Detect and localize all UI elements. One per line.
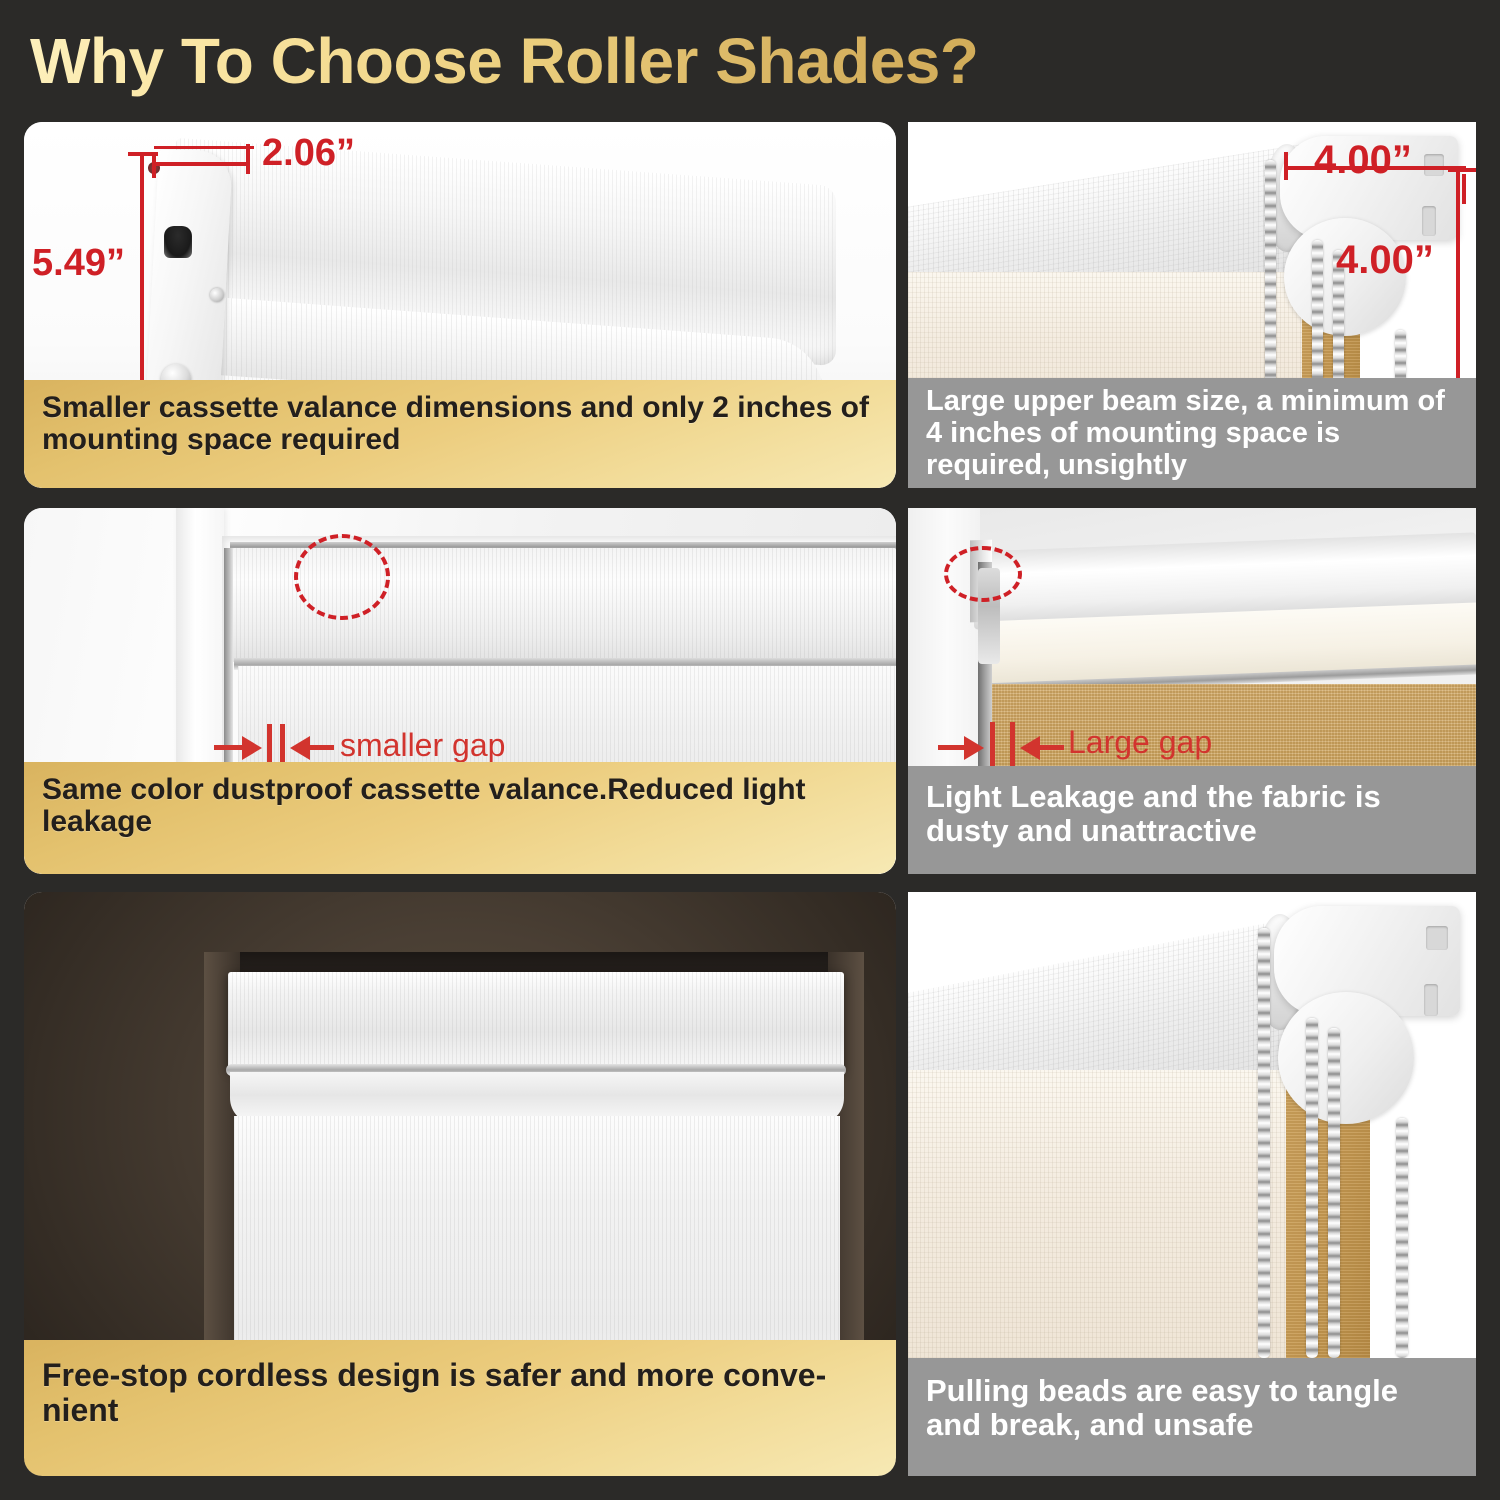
gap-arrow-right-icon	[242, 736, 262, 760]
gap-arrow-stem-left	[938, 745, 964, 750]
gap-tick-left	[990, 722, 995, 768]
gap-tick-right	[280, 724, 285, 766]
dimension-label-width: 4.00”	[1314, 138, 1412, 183]
bead-chain-left	[1258, 928, 1270, 1358]
gap-label: smaller gap	[340, 727, 505, 764]
dimension-tick-right	[246, 144, 250, 174]
dimension-tick-left	[1284, 152, 1288, 180]
cassette-valance	[228, 972, 844, 1070]
gap-arrow-stem-right	[1040, 745, 1064, 750]
panel-cordless-design: Free-stop cordless design is safer and m…	[24, 892, 896, 1476]
dimension-line-width	[154, 162, 250, 166]
bracket-tab-top	[1424, 154, 1444, 176]
gap-arrow-stem-right	[310, 745, 334, 750]
panel-pulling-beads: Pulling beads are easy to tangle and bre…	[908, 892, 1476, 1476]
panel-large-upper-beam: 4.00” 4.00” Large upper beam size, a min…	[908, 122, 1476, 488]
panel-caption: Pulling beads are easy to tangle and bre…	[908, 1358, 1476, 1476]
gap-arrow-stem-left	[214, 745, 242, 750]
gap-arrow-left-icon	[290, 736, 310, 760]
dimension-tick-top	[1448, 168, 1476, 172]
gap-arrow-right-icon	[964, 736, 984, 760]
gap-tick-left	[267, 724, 272, 766]
valance-screw-small	[210, 288, 224, 302]
panel-smaller-cassette: 2.06” 5.49” Smaller cassette valance dim…	[24, 122, 896, 488]
panel-caption: Light Leakage and the fabric is dusty an…	[908, 766, 1476, 874]
comparison-grid: 2.06” 5.49” Smaller cassette valance dim…	[0, 0, 1500, 1500]
dimension-guide-top	[154, 146, 254, 149]
bracket-tab-bottom	[1424, 984, 1438, 1016]
dimension-tick-top	[128, 152, 158, 156]
highlight-circle-icon	[294, 534, 390, 620]
bracket-tab-top	[1426, 926, 1448, 950]
panel-caption: Large upper beam size, a minimum of 4 in…	[908, 378, 1476, 488]
dimension-line-height	[1456, 170, 1460, 384]
gap-tick-right	[1010, 722, 1015, 768]
mounting-bracket-lower-lobe	[1278, 992, 1414, 1124]
shade-main-fabric	[908, 1070, 1294, 1358]
dimension-label-width: 2.06”	[262, 132, 355, 175]
panel-caption: Free-stop cordless design is safer and m…	[24, 1340, 896, 1476]
panel-caption: Smaller cassette valance dimensions and …	[24, 380, 896, 488]
valance-slot	[164, 226, 192, 258]
bracket-tab-bottom	[1422, 206, 1436, 236]
panel-caption: Same color dustproof cassette valance.Re…	[24, 762, 896, 874]
bead-chain-middle	[1306, 1018, 1318, 1358]
dimension-tick-right	[1462, 174, 1466, 204]
highlight-circle-icon	[944, 546, 1022, 602]
bead-chain-right	[1396, 1118, 1408, 1358]
panel-smaller-gap: smaller gap Same color dustproof cassett…	[24, 508, 896, 874]
panel-large-gap: Large gap Light Leakage and the fabric i…	[908, 508, 1476, 874]
dimension-label-height: 4.00”	[1336, 238, 1434, 283]
dimension-label-height: 5.49”	[32, 242, 125, 285]
bead-chain-middle-2	[1328, 1028, 1340, 1358]
gap-arrow-left-icon	[1020, 736, 1040, 760]
gap-label: Large gap	[1068, 724, 1212, 761]
